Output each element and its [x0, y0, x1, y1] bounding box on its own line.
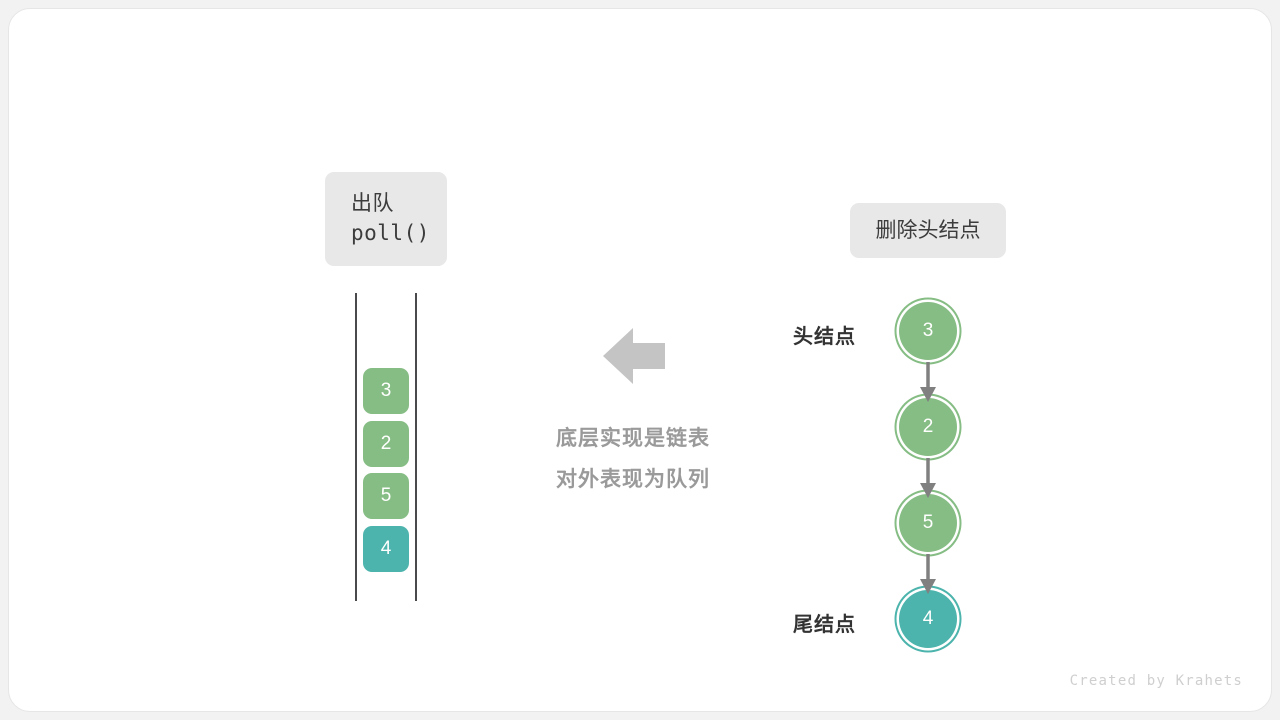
list-node: 5 — [899, 494, 957, 552]
tail-node-label: 尾结点 — [793, 608, 856, 637]
list-node: 3 — [899, 302, 957, 360]
operation-label-code: poll() — [351, 219, 430, 249]
watermark-text: Created by Krahets — [1070, 673, 1243, 689]
operation-label-chip: 出队 poll() — [325, 172, 447, 266]
queue-column: 3 2 5 4 — [339, 287, 439, 607]
caption-line-1: 底层实现是链表 — [508, 419, 758, 460]
list-node: 2 — [899, 398, 957, 456]
arrow-down-icon — [912, 362, 944, 404]
diagram-card: 出队 poll() 删除头结点 3 2 5 4 底层实现是链表 对外表现为队列 — [8, 8, 1272, 712]
head-node-label: 头结点 — [793, 320, 856, 349]
arrow-left-icon — [603, 327, 665, 385]
action-label-text: 删除头结点 — [876, 216, 981, 246]
arrow-down-icon — [912, 458, 944, 500]
list-node: 4 — [899, 590, 957, 648]
operation-label-cn: 出队 — [351, 189, 394, 219]
arrow-down-icon — [912, 554, 944, 596]
queue-rail-right — [415, 293, 417, 601]
diagram-canvas: 出队 poll() 删除头结点 3 2 5 4 底层实现是链表 对外表现为队列 — [0, 0, 1280, 720]
queue-item: 5 — [363, 473, 409, 519]
queue-rail-left — [355, 293, 357, 601]
explanation-caption: 底层实现是链表 对外表现为队列 — [508, 419, 758, 501]
linked-list: 头结点 尾结点 3 2 5 4 — [779, 289, 999, 659]
queue-item: 4 — [363, 526, 409, 572]
action-label-chip: 删除头结点 — [850, 203, 1006, 258]
queue-item: 3 — [363, 368, 409, 414]
caption-line-2: 对外表现为队列 — [508, 460, 758, 501]
queue-item: 2 — [363, 421, 409, 467]
